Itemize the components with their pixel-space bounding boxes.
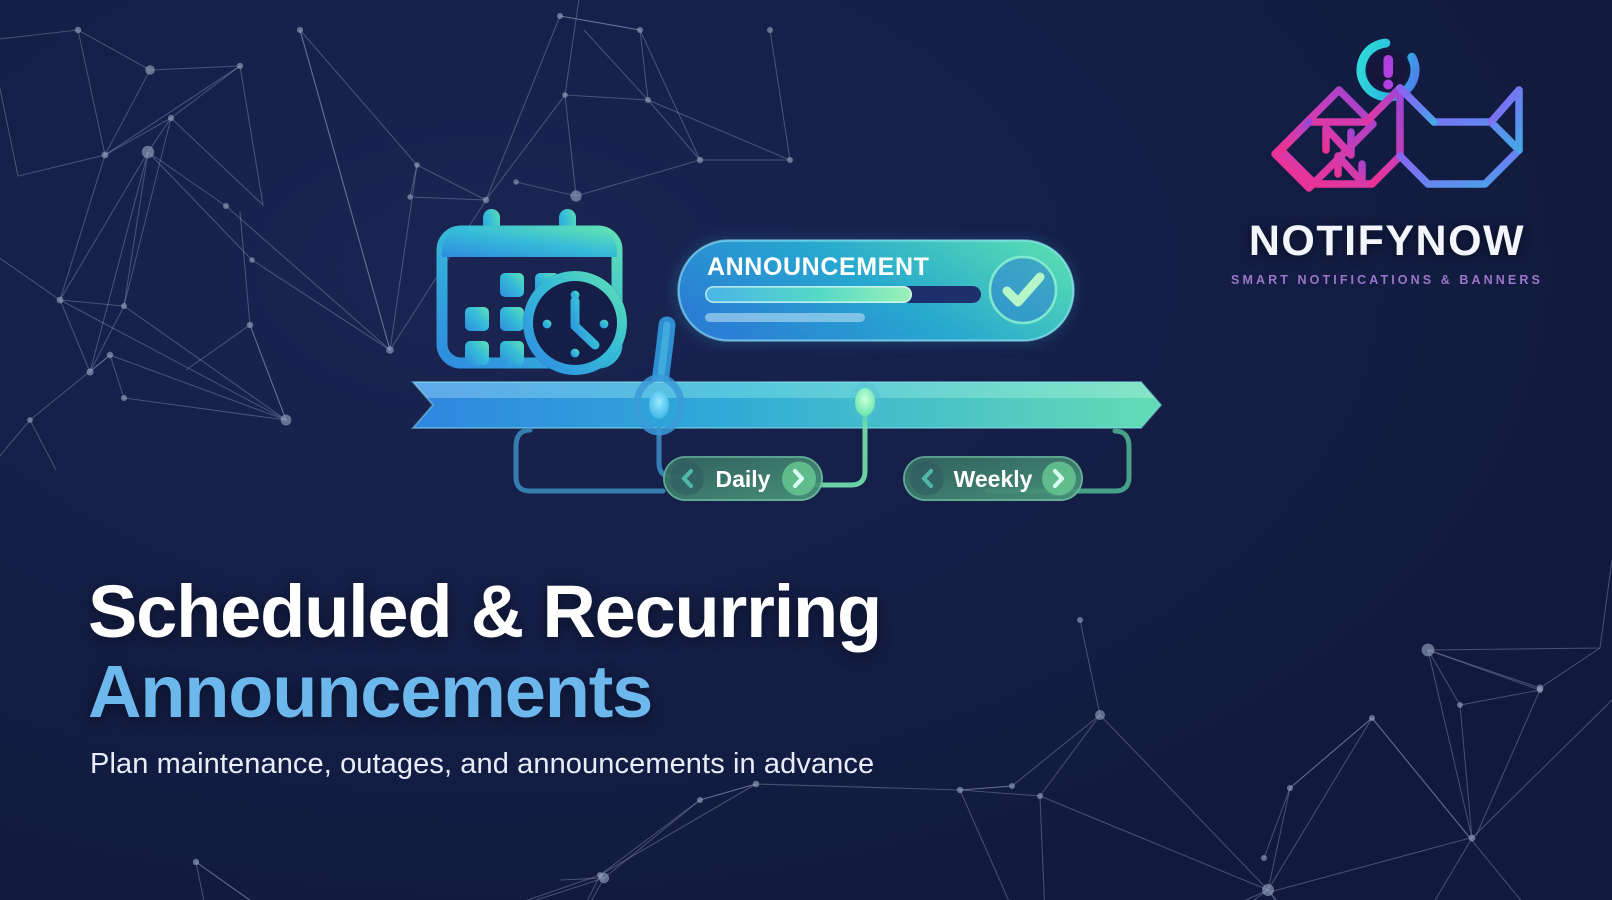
node-weekly — [849, 382, 881, 422]
recurrence-pill-daily[interactable]: Daily — [663, 456, 823, 501]
headline-line-1: Scheduled & Recurring — [88, 572, 1088, 652]
brand-tagline: SMART NOTIFICATIONS & BANNERS — [1222, 274, 1552, 287]
brand-wordmark: NOTIFYNOW — [1222, 220, 1552, 263]
logo-mark — [1222, 24, 1552, 220]
recurrence-pill-daily-label: Daily — [716, 466, 771, 492]
announcement-card-title: ANNOUNCEMENT — [707, 253, 929, 281]
chevron-right-icon[interactable] — [1042, 462, 1076, 496]
chevron-right-icon[interactable] — [782, 462, 816, 496]
recurrence-pill-weekly[interactable]: Weekly — [903, 456, 1083, 501]
calendar-clock-icon — [442, 209, 627, 375]
logo-right-diamond — [1400, 88, 1519, 184]
logo-left-diamond — [1275, 88, 1400, 188]
schedule-illustration: ANNOUNCEMENT — [395, 195, 1185, 525]
chevron-left-icon[interactable] — [910, 462, 944, 496]
chevron-left-icon[interactable] — [670, 462, 704, 496]
banner-canvas: .ln{stroke:#8e98b8;stroke-width:1.05;fil… — [0, 0, 1612, 900]
brand-logo: NOTIFYNOW SMART NOTIFICATIONS & BANNERS — [1222, 24, 1552, 290]
headline-line-2: Announcements — [88, 652, 1088, 732]
announcement-progress — [705, 286, 981, 303]
subtitle: Plan maintenance, outages, and announcem… — [90, 748, 1190, 781]
check-circle-icon — [990, 257, 1056, 323]
schedule-timeline — [413, 382, 1161, 428]
announcement-card[interactable]: ANNOUNCEMENT — [678, 240, 1074, 341]
recurrence-pill-weekly-label: Weekly — [954, 466, 1033, 492]
headline-block: Scheduled & Recurring Announcements — [88, 572, 1088, 732]
